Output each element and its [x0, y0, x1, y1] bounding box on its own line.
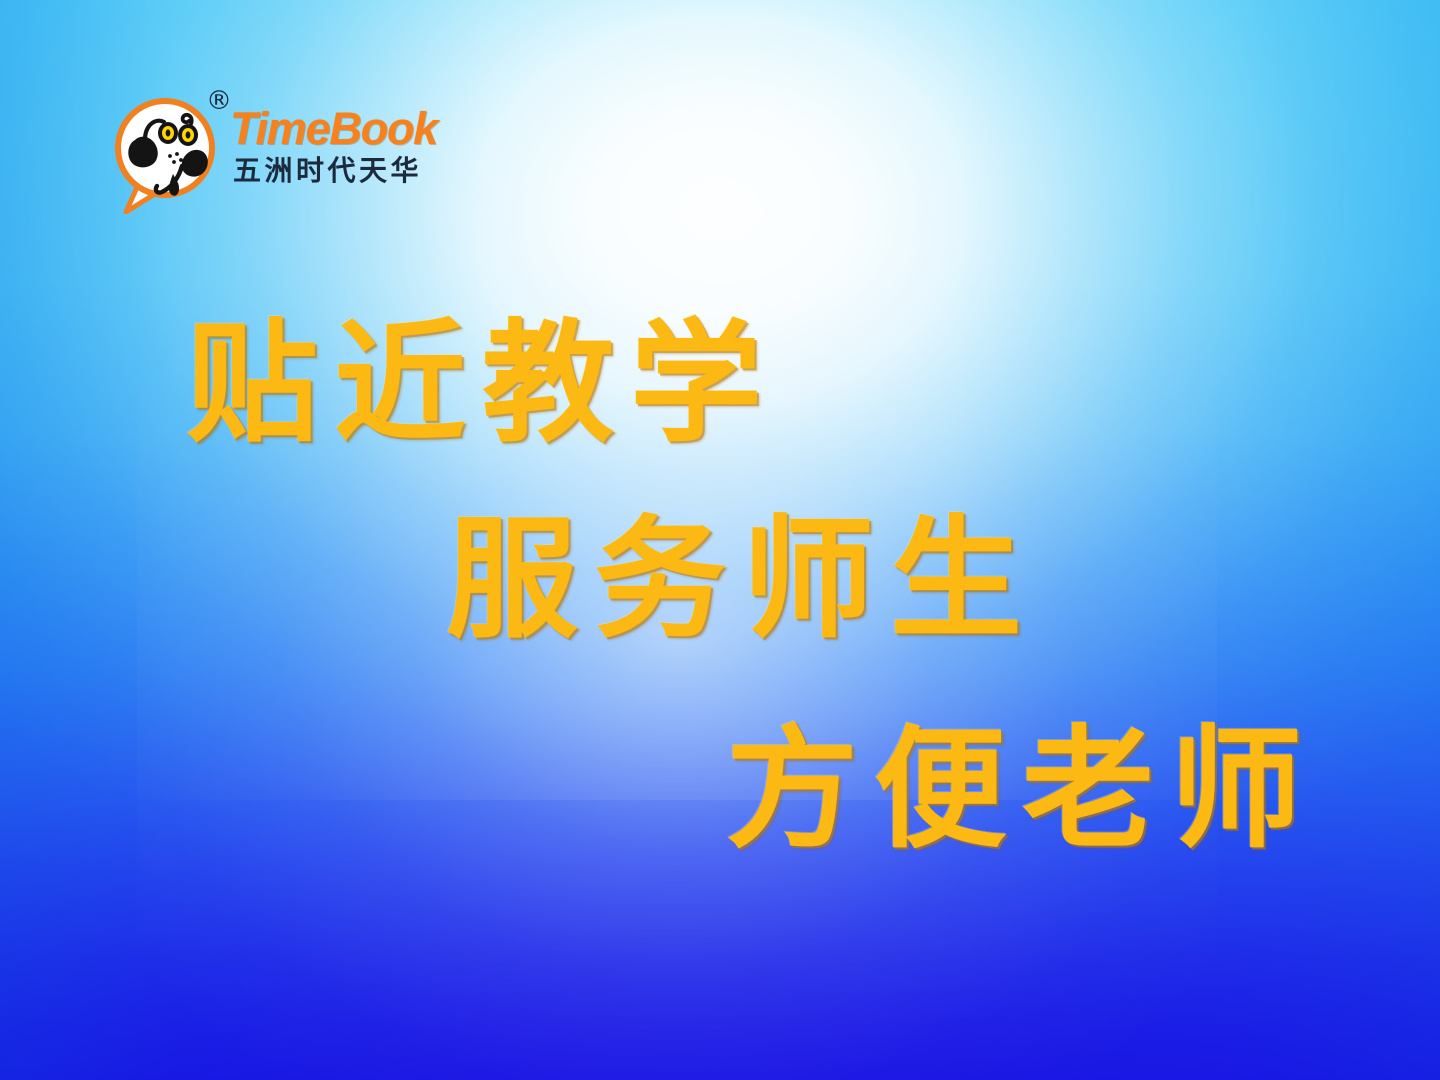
registered-trademark-symbol: ®	[206, 88, 232, 114]
brand-logo-lockup[interactable]: ® TimeBook 五洲时代天华	[112, 88, 472, 214]
slide-canvas: ® TimeBook 五洲时代天华 贴近教学 服务师生 方便老师	[0, 0, 1440, 1080]
brand-wordmark: TimeBook 五洲时代天华	[230, 106, 470, 185]
headline-line-3: 方便老师	[726, 724, 1318, 856]
timebook-dog-logo-icon	[112, 88, 220, 214]
brand-chinese-name-text: 五洲时代天华	[233, 157, 470, 185]
headline-line-1: 贴近教学	[186, 318, 778, 450]
headline-line-2: 服务师生	[446, 514, 1038, 646]
brand-name-text: TimeBook	[230, 106, 470, 151]
